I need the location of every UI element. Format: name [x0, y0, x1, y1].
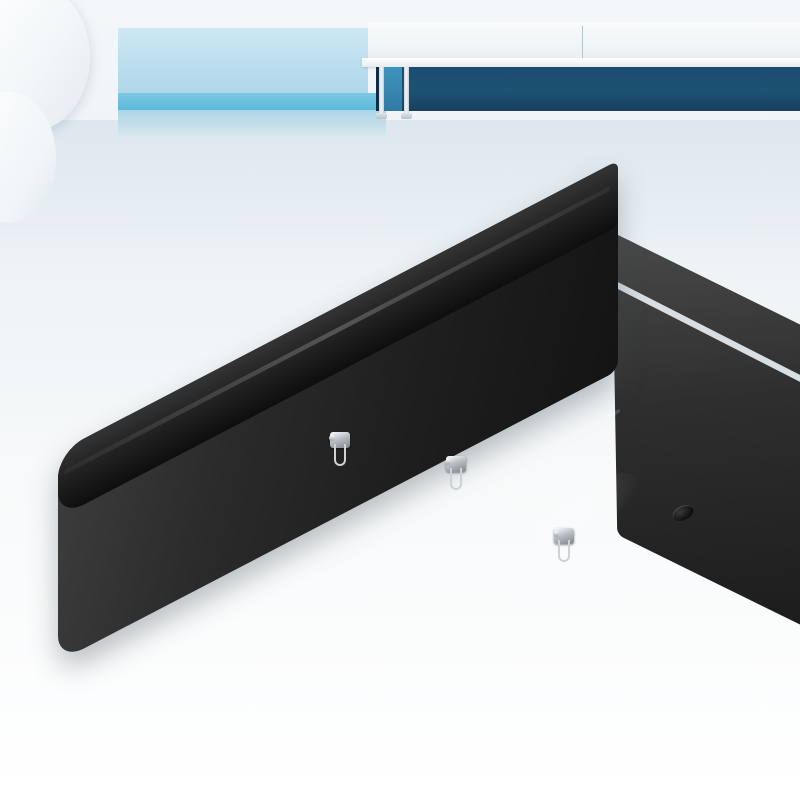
- product-marketing-image: Ventilated vinyl lining Organic bamboo c…: [0, 0, 800, 800]
- table-leg-front-left: [0, 0, 26, 268]
- table-latch: [444, 456, 470, 486]
- table-latch: [552, 528, 578, 558]
- massage-table: [0, 0, 800, 800]
- table-leg-front-right: [0, 504, 23, 756]
- table-latch: [328, 432, 354, 462]
- table-leg-front-left-inner: [0, 268, 18, 504]
- table-leg-front-right-inner: [0, 756, 19, 800]
